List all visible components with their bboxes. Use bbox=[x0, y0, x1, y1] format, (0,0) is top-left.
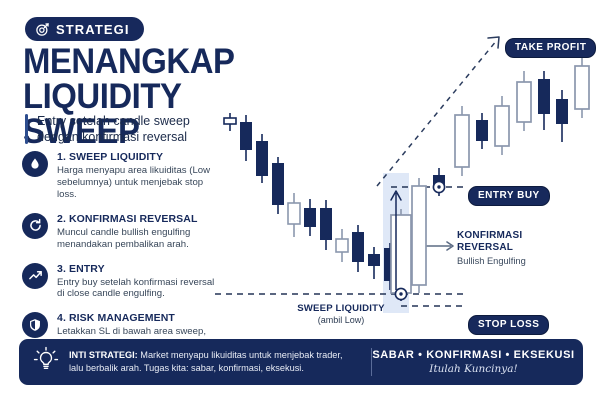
step-item-konfirmasi-reversal: 2. KONFIRMASI REVERSAL Muncul candle bul… bbox=[22, 212, 222, 251]
entry-buy-marker bbox=[433, 181, 444, 192]
subtitle-line-1: Entry setelah candle sweep bbox=[37, 113, 190, 129]
candlestick-chart: TAKE PROFIT ENTRY BUY STOP LOSS KONFIRMA… bbox=[205, 18, 600, 328]
candle-up bbox=[412, 178, 426, 293]
page-title-line-1: MENANGKAP bbox=[23, 42, 234, 81]
candle-up bbox=[455, 106, 469, 176]
candle-up bbox=[517, 71, 531, 131]
lightbulb-icon bbox=[33, 346, 59, 379]
trending-up-icon bbox=[22, 263, 48, 289]
footer-lead: INTI STRATEGI: bbox=[69, 350, 138, 360]
candle-down bbox=[240, 115, 252, 161]
candle-up bbox=[495, 96, 509, 155]
refresh-reverse-icon bbox=[22, 213, 48, 239]
step-description: Harga menyapu area likuiditas (Low sebel… bbox=[57, 165, 222, 201]
strategi-badge-label: STRATEGI bbox=[56, 22, 130, 37]
konfirmasi-reversal-annotation: KONFIRMASI REVERSAL Bullish Engulfing bbox=[457, 230, 526, 267]
step-title: 2. KONFIRMASI REVERSAL bbox=[57, 213, 222, 226]
step-item-sweep-liquidity: 1. SWEEP LIQUIDITY Harga menyapu area li… bbox=[22, 150, 222, 201]
candle-down bbox=[368, 247, 380, 279]
projection-trendline bbox=[377, 40, 497, 186]
step-title: 4. RISK MANAGEMENT bbox=[57, 312, 222, 325]
konfirmasi-annotation-line-2: REVERSAL bbox=[457, 242, 526, 254]
steps-list: 1. SWEEP LIQUIDITY Harga menyapu area li… bbox=[22, 150, 222, 361]
candle-down bbox=[272, 157, 284, 214]
target-icon bbox=[35, 22, 50, 37]
sweep-annotation-sub: (ambil Low) bbox=[281, 315, 401, 325]
stop-loss-label: STOP LOSS bbox=[468, 315, 549, 335]
footer-motto: SABAR • KONFIRMASI • EKSEKUSI bbox=[372, 349, 575, 361]
candle-down bbox=[320, 200, 332, 250]
sweep-low-marker bbox=[395, 288, 406, 299]
konfirmasi-annotation-sub: Bullish Engulfing bbox=[457, 255, 526, 267]
candle-down bbox=[476, 113, 488, 149]
chart-canvas bbox=[205, 18, 600, 328]
water-drop-icon bbox=[22, 151, 48, 177]
step-description: Muncul candle bullish engulfing menandak… bbox=[57, 227, 222, 251]
konfirmasi-annotation-line-1: KONFIRMASI bbox=[457, 230, 526, 242]
candle-up bbox=[288, 193, 300, 237]
footer-tagline: Itulah Kuncinya! bbox=[372, 363, 575, 375]
shield-icon bbox=[22, 312, 48, 338]
infographic-page: STRATEGI MENANGKAP LIQUIDITY SWEEP Entry… bbox=[0, 0, 602, 401]
subtitle-rule bbox=[25, 114, 28, 144]
subtitle: Entry setelah candle sweep dengan konfir… bbox=[25, 113, 190, 145]
candle-series-uptrend bbox=[455, 56, 589, 176]
footer-body-line-2: lalu berbalik arah. Tugas kita: sabar, k… bbox=[69, 362, 343, 375]
candle-series-downtrend bbox=[224, 113, 407, 301]
candle-bullish-engulfing bbox=[391, 209, 411, 296]
step-description: Entry buy setelah konfirmasi reversal di… bbox=[57, 277, 222, 301]
step-title: 1. SWEEP LIQUIDITY bbox=[57, 151, 222, 164]
candle-down bbox=[304, 199, 316, 236]
candle-down bbox=[538, 71, 550, 130]
sweep-annotation-title: SWEEP LIQUIDITY bbox=[281, 303, 401, 314]
take-profit-label: TAKE PROFIT bbox=[505, 38, 596, 58]
projection-arrowhead bbox=[488, 37, 499, 48]
candle-up bbox=[575, 56, 589, 118]
footer-body-line-1: Market menyapu likuiditas untuk menjebak… bbox=[138, 350, 343, 360]
step-title: 3. ENTRY bbox=[57, 263, 222, 276]
entry-buy-label: ENTRY BUY bbox=[468, 186, 550, 206]
subtitle-line-2: dengan konfirmasi reversal bbox=[37, 129, 190, 145]
candle-down bbox=[256, 134, 268, 183]
strategi-badge: STRATEGI bbox=[25, 17, 144, 41]
candle-down bbox=[556, 90, 568, 142]
candle-down bbox=[352, 225, 364, 272]
candle-up bbox=[336, 229, 348, 262]
step-item-entry: 3. ENTRY Entry buy setelah konfirmasi re… bbox=[22, 262, 222, 301]
candle-down bbox=[224, 113, 236, 131]
sweep-liquidity-annotation: SWEEP LIQUIDITY (ambil Low) bbox=[281, 303, 401, 325]
footer-banner: INTI STRATEGI: Market menyapu likuiditas… bbox=[19, 339, 583, 385]
